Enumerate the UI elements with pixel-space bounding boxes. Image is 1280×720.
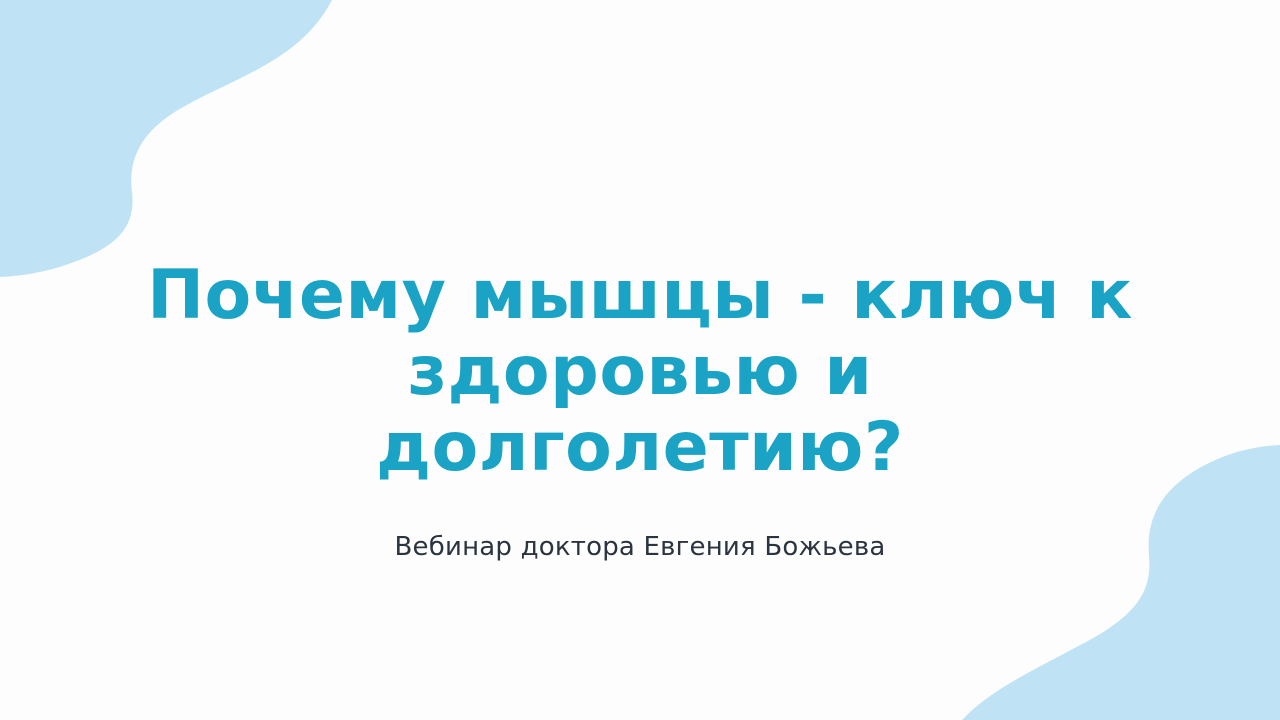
slide-subtitle: Вебинар доктора Евгения Божьева [190,486,1090,564]
page-title: Почему мышцы - ключ к здоровью и долголе… [135,258,1145,486]
slide-text-block: Почему мышцы - ключ к здоровью и долголе… [0,0,1280,720]
title-slide: Почему мышцы - ключ к здоровью и долголе… [0,0,1280,720]
